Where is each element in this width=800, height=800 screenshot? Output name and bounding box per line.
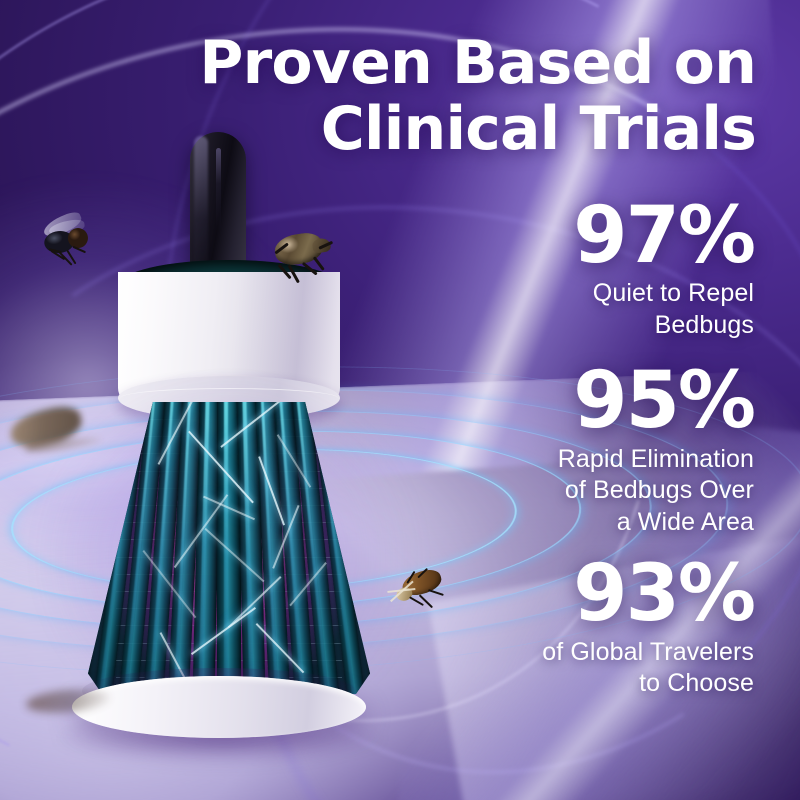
stat-caption-line: Quiet to Repel bbox=[593, 279, 754, 307]
blurred-bug-bottom-icon bbox=[26, 684, 122, 724]
stat-caption-line: Rapid Elimination bbox=[558, 445, 754, 473]
headline-line-2: Clinical Trials bbox=[156, 96, 756, 162]
stat-global-travelers: 93% of Global Travelers to Choose bbox=[284, 556, 754, 699]
blurred-bug-shell bbox=[25, 686, 111, 715]
housefly-icon bbox=[35, 209, 102, 269]
page-title: Proven Based on Clinical Trials bbox=[156, 30, 756, 162]
stat-percent: 93% bbox=[284, 556, 754, 632]
stat-caption: of Global Travelers to Choose bbox=[284, 637, 754, 700]
headline-line-1: Proven Based on bbox=[199, 28, 756, 98]
stat-caption: Quiet to Repel Bedbugs bbox=[284, 278, 754, 341]
stat-caption-line: a Wide Area bbox=[617, 508, 754, 536]
stat-caption: Rapid Elimination of Bedbugs Over a Wide… bbox=[284, 444, 754, 539]
blurred-bug-left-icon bbox=[0, 392, 110, 488]
stat-repel-bedbugs: 97% Quiet to Repel Bedbugs bbox=[284, 198, 754, 341]
stat-caption-line: Bedbugs bbox=[655, 311, 754, 339]
stat-caption-line: to Choose bbox=[639, 669, 754, 697]
stat-rapid-elimination: 95% Rapid Elimination of Bedbugs Over a … bbox=[284, 363, 754, 538]
stat-caption-line: of Bedbugs Over bbox=[565, 476, 754, 504]
stat-caption-line: of Global Travelers bbox=[542, 638, 754, 666]
promo-poster: Proven Based on Clinical Trials 97% Quie… bbox=[0, 0, 800, 800]
stat-percent: 97% bbox=[284, 198, 754, 274]
stat-percent: 95% bbox=[284, 363, 754, 439]
statistics-list: 97% Quiet to Repel Bedbugs 95% Rapid Eli… bbox=[284, 198, 754, 700]
